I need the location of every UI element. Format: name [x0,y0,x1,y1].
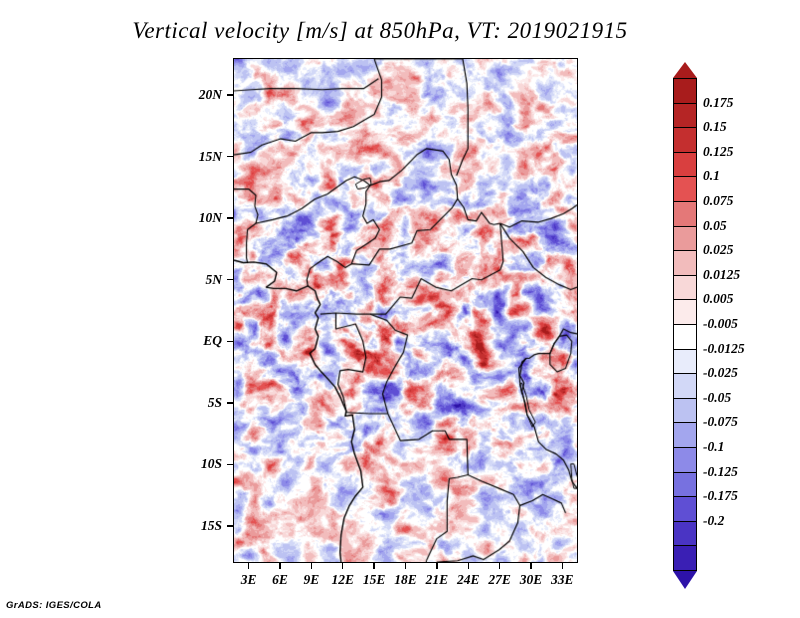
longitude-label: 21E [426,572,449,588]
latitude-tick [227,279,233,280]
colorbar-label: 0.175 [703,95,733,111]
colorbar-label: -0.175 [703,488,738,504]
latitude-tick [227,94,233,95]
latitude-label: 15N [0,149,222,165]
map-plot-area[interactable] [233,58,578,563]
longitude-tick [342,563,343,569]
longitude-tick [468,563,469,569]
colorbar-label: 0.025 [703,242,733,258]
colorbar-label: -0.025 [703,365,738,381]
colorbar-swatch [673,250,697,276]
longitude-label: 27E [488,572,511,588]
longitude-tick [279,563,280,569]
colorbar-swatch [673,127,697,153]
colorbar-swatch [673,226,697,252]
latitude-tick [227,525,233,526]
latitude-label: 5S [0,395,222,411]
colorbar-swatch [673,275,697,301]
colorbar-label: 0.05 [703,218,727,234]
colorbar-swatch [673,324,697,350]
longitude-tick [373,563,374,569]
colorbar-swatch [673,299,697,325]
colorbar-label: 0.0125 [703,267,740,283]
colorbar-swatch [673,521,697,547]
colorbar-label: -0.0125 [703,341,745,357]
colorbar-over-arrow-icon [673,62,697,78]
latitude-label: 15S [0,518,222,534]
colorbar-swatch [673,545,697,571]
longitude-tick [436,563,437,569]
colorbar-label: 0.005 [703,291,733,307]
longitude-tick [311,563,312,569]
latitude-label: 5N [0,272,222,288]
latitude-tick [227,217,233,218]
colorbar-label: 0.075 [703,193,733,209]
colorbar-swatch [673,152,697,178]
colorbar-swatch [673,472,697,498]
colorbar-swatch [673,447,697,473]
colorbar-label: -0.2 [703,513,724,529]
colorbar-label: 0.15 [703,119,727,135]
colorbar-label: -0.05 [703,390,731,406]
colorbar-swatch [673,201,697,227]
colorbar-swatch [673,496,697,522]
longitude-label: 33E [551,572,574,588]
latitude-tick [227,341,233,342]
grads-attribution: GrADS: IGES/COLA [6,600,102,611]
latitude-label: EQ [0,333,222,349]
colorbar-swatch [673,373,697,399]
colorbar-label: 0.1 [703,168,720,184]
colorbar-label: 0.125 [703,144,733,160]
longitude-label: 12E [332,572,355,588]
colorbar-swatch [673,349,697,375]
colorbar-swatch [673,398,697,424]
longitude-label: 9E [304,572,320,588]
longitude-label: 30E [520,572,543,588]
longitude-label: 3E [241,572,257,588]
longitude-tick [248,563,249,569]
vertical-velocity-field [234,59,577,562]
grads-figure: Vertical velocity [m/s] at 850hPa, VT: 2… [0,0,800,618]
longitude-label: 18E [394,572,417,588]
longitude-label: 15E [363,572,386,588]
latitude-label: 20N [0,87,222,103]
colorbar-under-arrow-icon [673,571,697,589]
colorbar-label: -0.075 [703,414,738,430]
longitude-label: 24E [457,572,480,588]
colorbar-swatch [673,422,697,448]
longitude-tick [405,563,406,569]
colorbar-swatch [673,176,697,202]
latitude-label: 10S [0,456,222,472]
longitude-tick [562,563,563,569]
latitude-label: 10N [0,210,222,226]
chart-title: Vertical velocity [m/s] at 850hPa, VT: 2… [0,18,760,44]
longitude-tick [499,563,500,569]
colorbar-label: -0.1 [703,439,724,455]
latitude-tick [227,464,233,465]
colorbar-label: -0.005 [703,316,738,332]
colorbar-swatch [673,78,697,104]
colorbar-swatch [673,103,697,129]
latitude-tick [227,402,233,403]
colorbar-label: -0.125 [703,464,738,480]
latitude-tick [227,156,233,157]
longitude-tick [530,563,531,569]
longitude-label: 6E [272,572,288,588]
